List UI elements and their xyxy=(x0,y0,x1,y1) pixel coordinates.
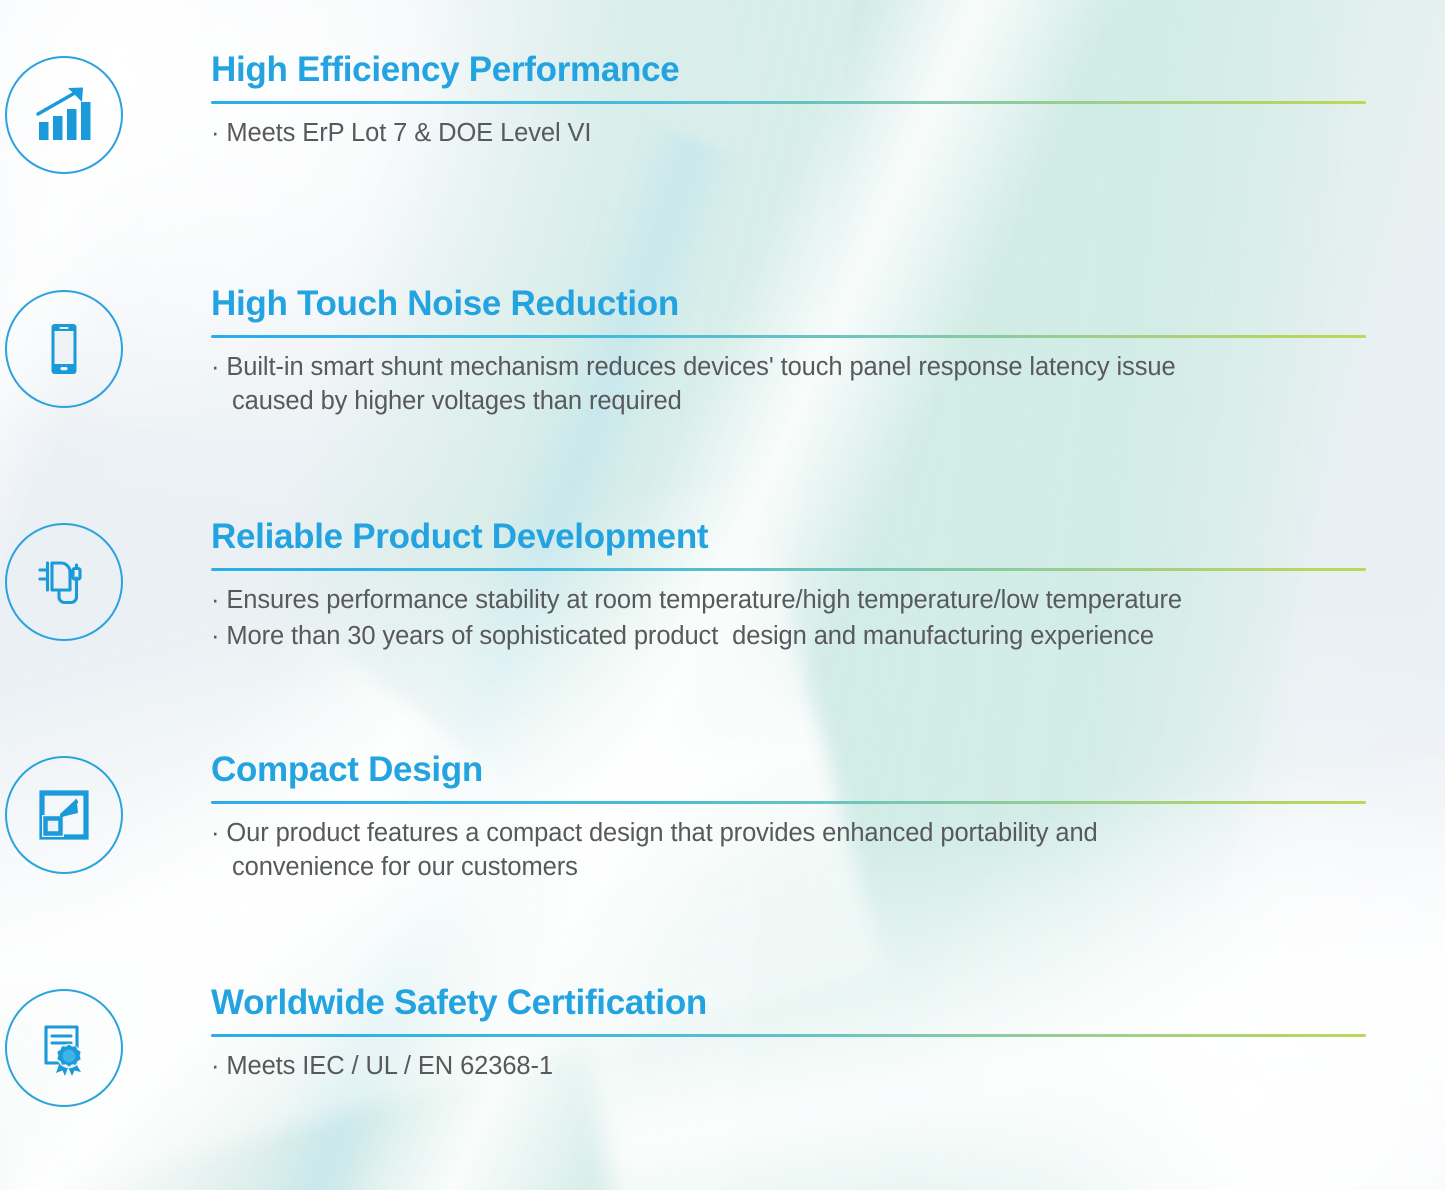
feature-divider xyxy=(211,1034,1366,1037)
feature-icon-container xyxy=(0,752,128,874)
feature-item-compact-design: Compact Design · Our product features a … xyxy=(0,752,1445,885)
feature-title: High Efficiency Performance xyxy=(211,52,1366,89)
feature-title: Compact Design xyxy=(211,752,1366,789)
feature-item-worldwide-safety-certification: Worldwide Safety Certification · Meets I… xyxy=(0,985,1445,1107)
feature-divider xyxy=(211,568,1366,571)
feature-bullets: · Our product features a compact design … xyxy=(211,817,1366,885)
feature-divider xyxy=(211,101,1366,104)
compact-resize-icon xyxy=(5,756,123,874)
feature-item-high-efficiency-performance: High Efficiency Performance · Meets ErP … xyxy=(0,52,1445,174)
feature-list: High Efficiency Performance · Meets ErP … xyxy=(0,0,1445,1190)
feature-bullet: · Meets ErP Lot 7 & DOE Level VI xyxy=(211,117,1366,151)
feature-icon-container xyxy=(0,985,128,1107)
feature-bullet: · Built-in smart shunt mechanism reduces… xyxy=(211,351,1366,419)
feature-body: High Touch Noise Reduction · Built-in sm… xyxy=(128,286,1445,419)
feature-icon-container xyxy=(0,519,128,641)
feature-icon-container xyxy=(0,52,128,174)
feature-body: Worldwide Safety Certification · Meets I… xyxy=(128,985,1445,1084)
feature-bullets: · Meets ErP Lot 7 & DOE Level VI xyxy=(211,117,1366,151)
feature-bullet: · Ensures performance stability at room … xyxy=(211,584,1366,618)
feature-title: High Touch Noise Reduction xyxy=(211,286,1366,323)
feature-body: High Efficiency Performance · Meets ErP … xyxy=(128,52,1445,151)
feature-bullet: · More than 30 years of sophisticated pr… xyxy=(211,620,1366,654)
smartphone-icon xyxy=(5,290,123,408)
feature-body: Reliable Product Development · Ensures p… xyxy=(128,519,1445,654)
feature-title: Worldwide Safety Certification xyxy=(211,985,1366,1022)
feature-icon-container xyxy=(0,286,128,408)
feature-bullets: · Built-in smart shunt mechanism reduces… xyxy=(211,351,1366,419)
feature-divider xyxy=(211,335,1366,338)
feature-bullet: · Meets IEC / UL / EN 62368-1 xyxy=(211,1050,1366,1084)
feature-item-reliable-product-development: Reliable Product Development · Ensures p… xyxy=(0,519,1445,654)
feature-divider xyxy=(211,801,1366,804)
power-adapter-icon xyxy=(5,523,123,641)
feature-bullets: · Meets IEC / UL / EN 62368-1 xyxy=(211,1050,1366,1084)
certificate-seal-icon xyxy=(5,989,123,1107)
bar-chart-growth-icon xyxy=(5,56,123,174)
feature-title: Reliable Product Development xyxy=(211,519,1366,556)
feature-body: Compact Design · Our product features a … xyxy=(128,752,1445,885)
feature-bullets: · Ensures performance stability at room … xyxy=(211,584,1366,654)
feature-item-high-touch-noise-reduction: High Touch Noise Reduction · Built-in sm… xyxy=(0,286,1445,419)
feature-bullet: · Our product features a compact design … xyxy=(211,817,1366,885)
